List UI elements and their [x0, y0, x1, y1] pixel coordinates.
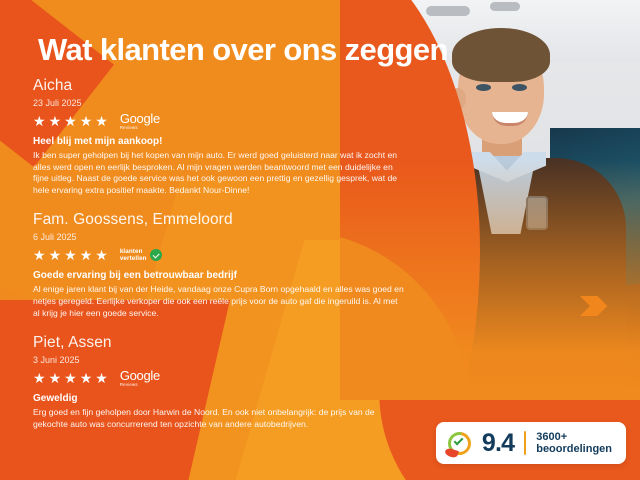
- star-icon: ★: [33, 114, 46, 128]
- star-icon: ★: [64, 248, 77, 262]
- star-rating: ★ ★ ★ ★ ★: [33, 114, 108, 128]
- star-icon: ★: [64, 114, 77, 128]
- score-caption: 3600+ beoordelingen: [536, 431, 612, 456]
- review-item: Piet, Assen 3 Juni 2025 ★ ★ ★ ★ ★ Google…: [33, 333, 413, 430]
- klantenvertellen-badge: klanten vertellen: [120, 248, 162, 263]
- star-icon: ★: [64, 371, 77, 385]
- reviews-list: Aicha 23 Juli 2025 ★ ★ ★ ★ ★ Google Revi…: [33, 76, 413, 444]
- star-icon: ★: [33, 248, 46, 262]
- content-layer: Wat klanten over ons zeggen Aicha 23 Jul…: [0, 0, 640, 480]
- star-icon: ★: [80, 371, 93, 385]
- google-reviews-sublabel: Reviews: [120, 383, 138, 387]
- review-meta: ★ ★ ★ ★ ★ Google Reviews: [33, 113, 413, 129]
- review-body: Ik ben super geholpen bij het kopen van …: [33, 150, 405, 196]
- green-check-icon: [150, 249, 162, 261]
- star-icon: ★: [95, 248, 108, 262]
- review-title: Geweldig: [33, 393, 413, 404]
- overall-score-badge: 9.4 3600+ beoordelingen: [436, 422, 626, 464]
- star-icon: ★: [49, 248, 62, 262]
- klantenvertellen-line2: vertellen: [120, 255, 147, 262]
- review-date: 23 Juli 2025: [33, 97, 413, 110]
- review-item: Aicha 23 Juli 2025 ★ ★ ★ ★ ★ Google Revi…: [33, 76, 413, 196]
- google-reviews-sublabel: Reviews: [120, 126, 138, 130]
- review-title: Heel blij met mijn aankoop!: [33, 136, 413, 147]
- review-count: 3600+: [536, 431, 612, 444]
- klantenvertellen-wordmark: klanten vertellen: [120, 248, 147, 263]
- klantenvertellen-line1: klanten: [120, 248, 147, 255]
- google-wordmark: Google: [120, 369, 160, 382]
- review-count-label: beoordelingen: [536, 443, 612, 456]
- star-icon: ★: [49, 371, 62, 385]
- google-wordmark: Google: [120, 112, 160, 125]
- page-title: Wat klanten over ons zeggen: [38, 32, 448, 68]
- star-icon: ★: [80, 114, 93, 128]
- review-item: Fam. Goossens, Emmeloord 6 Juli 2025 ★ ★…: [33, 210, 413, 319]
- score-value: 9.4: [482, 431, 514, 456]
- reviewer-name: Fam. Goossens, Emmeloord: [33, 210, 413, 230]
- reviewer-name: Aicha: [33, 76, 413, 96]
- star-icon: ★: [95, 114, 108, 128]
- review-body: Al enige jaren klant bij van der Heide, …: [33, 284, 405, 319]
- star-rating: ★ ★ ★ ★ ★: [33, 248, 108, 262]
- reviewer-name: Piet, Assen: [33, 333, 413, 353]
- review-title: Goede ervaring bij een betrouwbaar bedri…: [33, 270, 413, 281]
- google-reviews-badge: Google Reviews: [120, 369, 160, 387]
- review-body: Erg goed en fijn geholpen door Harwin de…: [33, 407, 405, 430]
- star-icon: ★: [33, 371, 46, 385]
- star-icon: ★: [49, 114, 62, 128]
- review-date: 3 Juni 2025: [33, 354, 413, 367]
- star-rating: ★ ★ ★ ★ ★: [33, 371, 108, 385]
- review-meta: ★ ★ ★ ★ ★ Google Reviews: [33, 370, 413, 386]
- klantenvertellen-logo-icon: [447, 431, 472, 456]
- score-divider: [524, 431, 526, 455]
- review-meta: ★ ★ ★ ★ ★ klanten vertellen: [33, 247, 413, 263]
- google-reviews-badge: Google Reviews: [120, 112, 160, 130]
- star-icon: ★: [95, 371, 108, 385]
- review-date: 6 Juli 2025: [33, 231, 413, 244]
- star-icon: ★: [80, 248, 93, 262]
